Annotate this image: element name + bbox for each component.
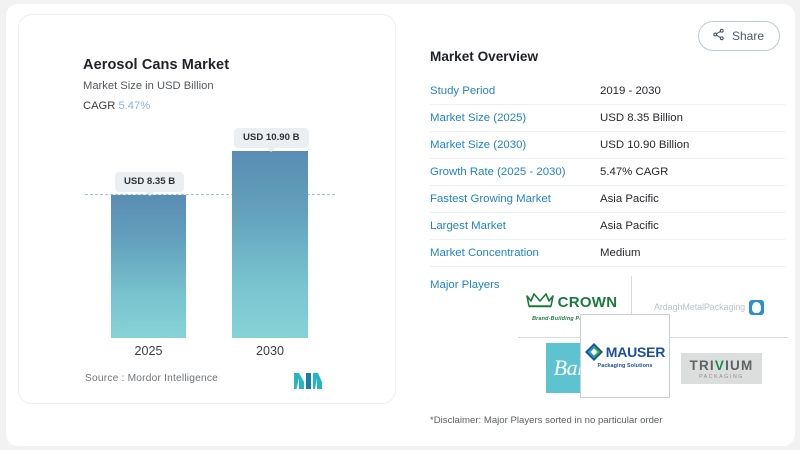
x-tick-2030: 2030 — [232, 344, 308, 358]
bar-label-2025: USD 8.35 B — [115, 172, 184, 192]
row-value: Medium — [600, 247, 641, 259]
trivium-subtext: PACKAGING — [690, 374, 754, 380]
row-value: 5.47% CAGR — [600, 166, 668, 178]
crown-wordmark: CROWN — [558, 295, 618, 310]
ardagh-wordmark: ArdaghMetalPackaging — [654, 302, 745, 312]
mauser-tagline: Packaging Solutions — [585, 363, 665, 369]
row-value: Asia Pacific — [600, 220, 659, 232]
row-key: Market Size (2030) — [430, 139, 600, 151]
table-row: Fastest Growing Market Asia Pacific — [430, 186, 785, 213]
report-card: Share Aerosol Cans Market Market Size in… — [6, 4, 795, 446]
table-row: Market Size (2030) USD 10.90 Billion — [430, 132, 785, 159]
ardagh-mark-icon — [749, 300, 764, 315]
bar-label-2030: USD 10.90 B — [234, 128, 309, 148]
share-nodes-icon — [712, 28, 725, 44]
chart-card: Aerosol Cans Market Market Size in USD B… — [18, 14, 396, 404]
bar-2030[interactable] — [232, 151, 308, 338]
logo-mauser-highlight-box: MAUSER Packaging Solutions — [580, 314, 670, 398]
mauser-mark-icon — [585, 343, 603, 361]
logo-trivium-packaging: TRIVIUM PACKAGING — [659, 339, 784, 397]
table-row: Market Concentration Medium — [430, 240, 785, 267]
share-button[interactable]: Share — [698, 21, 780, 51]
major-players-logo-grid: CROWN Brand-Building Packaging™ ArdaghMe… — [504, 276, 788, 398]
disclaimer-text: *Disclaimer: Major Players sorted in no … — [430, 415, 662, 426]
row-key: Study Period — [430, 85, 600, 97]
overview-title: Market Overview — [430, 49, 785, 64]
row-value: USD 8.35 Billion — [600, 112, 683, 124]
table-row: Market Size (2025) USD 8.35 Billion — [430, 105, 785, 132]
share-button-label: Share — [732, 29, 764, 43]
mauser-wordmark: MAUSER — [606, 344, 665, 360]
row-value: 2019 - 2030 — [600, 85, 661, 97]
market-overview-panel: Market Overview Study Period 2019 - 2030… — [430, 49, 785, 291]
row-value: USD 10.90 Billion — [600, 139, 689, 151]
x-tick-2025: 2025 — [111, 344, 186, 358]
bar-chart-plot: USD 8.35 B USD 10.90 B 2025 2030 — [19, 15, 397, 405]
source-label: Source : Mordor Intelligence — [85, 373, 218, 384]
crown-mark-icon — [525, 291, 555, 314]
row-key: Market Concentration — [430, 247, 600, 259]
row-key: Largest Market — [430, 220, 600, 232]
trivium-wordmark: TRIVIUM — [690, 358, 754, 373]
bar-2025[interactable] — [111, 195, 186, 338]
row-value: Asia Pacific — [600, 193, 659, 205]
row-key: Growth Rate (2025 - 2030) — [430, 166, 600, 178]
row-key: Fastest Growing Market — [430, 193, 600, 205]
trivium-part-b: IUM — [725, 358, 753, 373]
table-row: Study Period 2019 - 2030 — [430, 78, 785, 105]
mordor-intelligence-logo — [294, 373, 322, 394]
table-row: Largest Market Asia Pacific — [430, 213, 785, 240]
row-key: Market Size (2025) — [430, 112, 600, 124]
trivium-part-a: TRI — [690, 358, 715, 373]
table-row: Growth Rate (2025 - 2030) 5.47% CAGR — [430, 159, 785, 186]
trivium-part-v: V — [715, 358, 725, 373]
